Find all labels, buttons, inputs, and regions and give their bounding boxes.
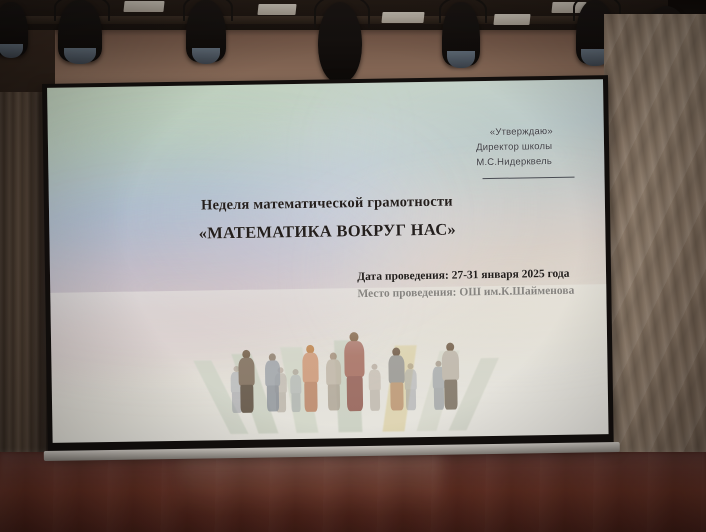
person-figure xyxy=(367,364,381,410)
person-figure xyxy=(343,332,365,410)
photo-scene: «Утверждаю» Директор школы М.С.Нидерквел… xyxy=(0,0,706,532)
truss-sign xyxy=(123,1,164,12)
truss-sign xyxy=(257,4,296,15)
approval-line-1: «Утверждаю» xyxy=(476,124,574,141)
person-figure xyxy=(387,347,405,409)
curtain-right xyxy=(604,14,706,474)
stage-light xyxy=(0,2,28,56)
projection-screen: «Утверждаю» Директор школы М.С.Нидерквел… xyxy=(42,75,614,452)
slide-meta-block: Дата проведения: 27-31 января 2025 года … xyxy=(357,266,574,303)
person-figure xyxy=(301,345,320,411)
presentation-slide: «Утверждаю» Директор школы М.С.Нидерквел… xyxy=(47,79,609,443)
person-figure xyxy=(325,352,342,410)
stage-light xyxy=(58,0,102,62)
truss-sign xyxy=(381,12,424,23)
person-figure xyxy=(403,363,417,409)
truss-sign xyxy=(493,14,530,25)
person-figure xyxy=(264,353,281,411)
approval-block: «Утверждаю» Директор школы М.С.Нидерквел… xyxy=(476,124,575,180)
curtain-left xyxy=(0,92,46,472)
slide-title-block: Неделя математической грамотности «МАТЕМ… xyxy=(49,191,606,246)
stage-light xyxy=(318,2,362,82)
stage-light xyxy=(186,0,226,62)
person-figure xyxy=(441,342,460,408)
floor-reflection xyxy=(180,452,440,514)
person-figure xyxy=(290,369,303,411)
stage-light xyxy=(442,2,480,66)
walking-people-illustration xyxy=(51,299,609,443)
approval-line-2: Директор школы xyxy=(476,139,574,156)
approval-line-3: М.С.Нидерквель xyxy=(476,154,574,171)
person-figure xyxy=(237,350,255,412)
